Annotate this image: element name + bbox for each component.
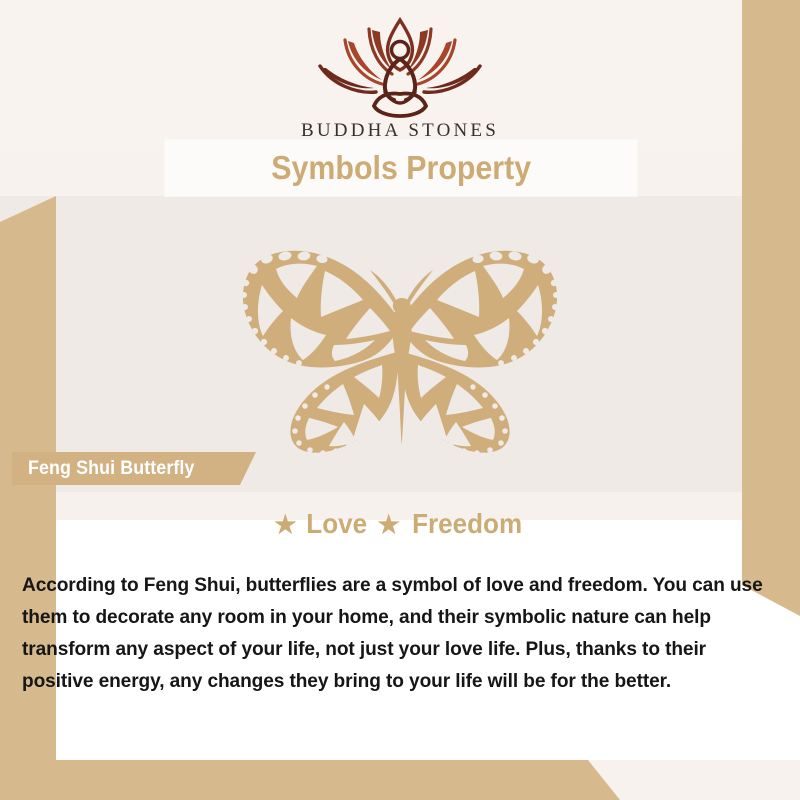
star-icon-2: ★: [377, 511, 399, 539]
attributes-headline: ★ Love ★ Freedom: [0, 508, 800, 540]
section-label-banner: Feng Shui Butterfly: [12, 452, 256, 485]
butterfly-icon: [215, 232, 585, 457]
butterfly-illustration: [215, 232, 585, 457]
description-paragraph: According to Feng Shui, butterflies are …: [22, 569, 773, 697]
brand-wordmark: BUDDHA STONES: [0, 120, 800, 142]
page-title: Symbols Property: [271, 149, 531, 187]
star-icon: ★: [274, 511, 296, 539]
frame-left-bar: [0, 196, 56, 800]
brand-logo: BUDDHA STONES: [0, 14, 800, 142]
lotus-meditation-icon: [312, 14, 488, 118]
attribute-love: Love: [307, 508, 368, 540]
section-label-text: Feng Shui Butterfly: [28, 458, 194, 480]
attribute-freedom: Freedom: [412, 508, 522, 540]
frame-bottom-bar: [0, 760, 620, 800]
promo-card: BUDDHA STONES Symbols Property: [0, 0, 800, 800]
title-band: Symbols Property: [165, 140, 637, 196]
